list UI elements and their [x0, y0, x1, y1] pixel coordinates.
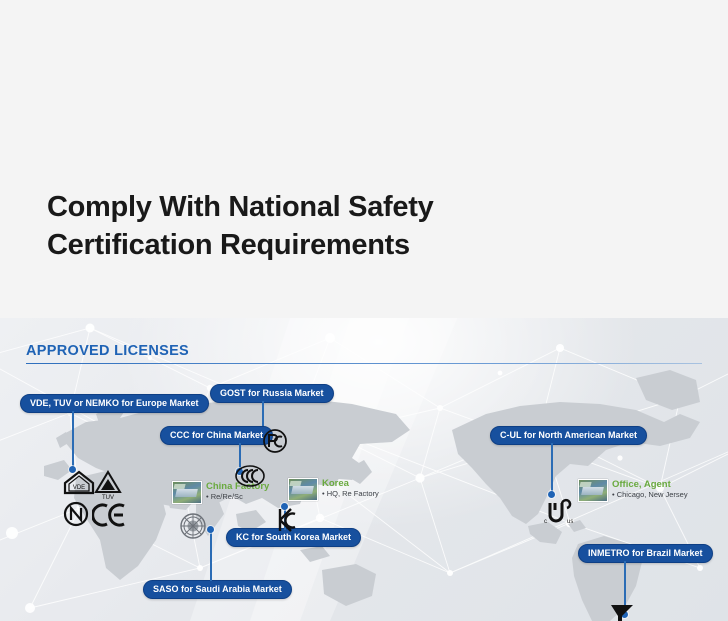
page-title: Comply With National Safety Certificatio…: [47, 188, 647, 264]
ccc-mark-icon: [234, 464, 266, 493]
infographic-page: Comply With National Safety Certificatio…: [0, 0, 728, 621]
callout-saudi-arabia[interactable]: SASO for Saudi Arabia Market: [143, 580, 292, 599]
section-divider: [26, 363, 702, 364]
site-name-korea: Korea: [322, 479, 379, 489]
section-title: APPROVED LICENSES: [26, 343, 189, 359]
saso-mark-icon: [180, 513, 206, 544]
leader-dot-saudi-arabia: [207, 526, 214, 533]
ce-mark-icon: [92, 502, 130, 533]
callout-brazil[interactable]: INMETRO for Brazil Market: [578, 544, 713, 563]
site-detail-office: Chicago, New Jersey: [612, 491, 688, 499]
kc-mark-icon: [276, 506, 298, 539]
callout-russia[interactable]: GOST for Russia Market: [210, 384, 334, 403]
inmetro-mark-icon: [608, 602, 636, 621]
svg-text:c: c: [544, 519, 547, 525]
office-photo-thumbnail: [578, 479, 608, 502]
site-korea: Korea HQ, Re Factory: [288, 478, 379, 501]
leader-line-europe: [72, 411, 74, 469]
nemko-mark-icon: [62, 500, 90, 533]
cul-mark-icon: c us: [538, 497, 578, 530]
svg-text:us: us: [567, 519, 573, 525]
world-map-band: APPROVED LICENSES VDE, TUV or NEMKO for …: [0, 318, 728, 621]
gost-r-mark-icon: [262, 428, 288, 459]
callout-north-america[interactable]: C-UL for North American Market: [490, 426, 647, 445]
site-text-korea: Korea HQ, Re Factory: [322, 478, 379, 498]
site-office-agent: Office, Agent Chicago, New Jersey: [578, 479, 688, 502]
svg-text:VDE: VDE: [73, 485, 85, 491]
site-detail-china: Re/Re/Sc: [206, 493, 269, 501]
svg-text:TUV: TUV: [102, 495, 114, 500]
headline-band: Comply With National Safety Certificatio…: [0, 0, 728, 318]
site-text-office: Office, Agent Chicago, New Jersey: [612, 479, 688, 499]
factory-photo-thumbnail-china: [172, 481, 202, 504]
site-detail-korea: HQ, Re Factory: [322, 490, 379, 498]
site-name-office: Office, Agent: [612, 480, 688, 490]
leader-line-saudi-arabia: [210, 531, 212, 581]
page-title-line1: Comply With National Safety: [47, 191, 433, 223]
page-title-line2: Certification Requirements: [47, 226, 647, 264]
leader-line-north-america: [551, 443, 553, 495]
tuv-mark-icon: TUV: [94, 470, 122, 505]
callout-china[interactable]: CCC for China Market: [160, 426, 273, 445]
callout-europe[interactable]: VDE, TUV or NEMKO for Europe Market: [20, 394, 209, 413]
vde-mark-icon: VDE: [62, 470, 96, 501]
factory-photo-thumbnail-korea: [288, 478, 318, 501]
